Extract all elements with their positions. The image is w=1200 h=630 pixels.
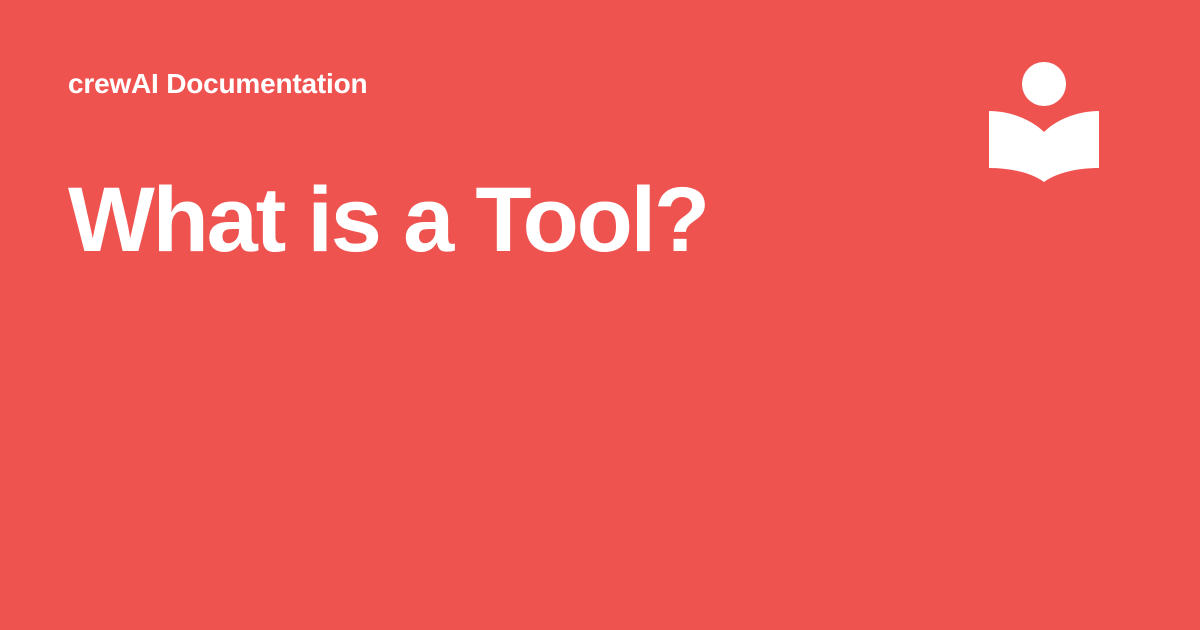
og-card: crewAI Documentation What is a Tool? <box>0 0 1200 630</box>
card-text-block: crewAI Documentation What is a Tool? <box>68 64 948 268</box>
site-name: crewAI Documentation <box>68 64 948 104</box>
page-title: What is a Tool? <box>68 172 948 268</box>
open-book-reader-logo-icon <box>985 60 1105 185</box>
